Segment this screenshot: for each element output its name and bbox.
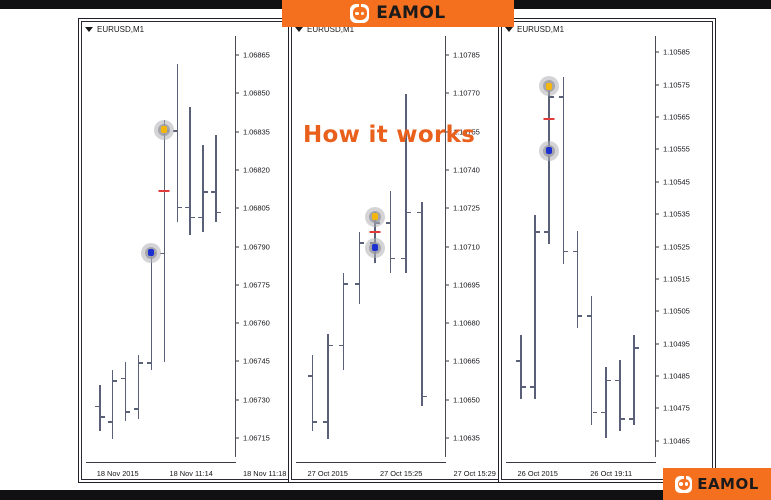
ohlc-close-tick [423, 396, 427, 398]
ohlc-open-tick [587, 315, 591, 317]
price-axis-tick [656, 311, 659, 312]
ohlc-open-tick [629, 418, 633, 420]
price-axis-tick [656, 246, 659, 247]
time-axis-label: 26 Oct 19:11 [590, 469, 632, 478]
ohlc-close-tick [101, 416, 105, 418]
ohlc-bar [312, 355, 314, 432]
price-axis-tick [446, 437, 449, 438]
price-axis-tick [446, 55, 449, 56]
price-axis-label: 1.10495 [663, 339, 690, 348]
sell-arrow-icon [148, 249, 154, 256]
brand-name: EAMOL [376, 5, 445, 22]
time-axis-label: 27 Oct 15:25 [380, 469, 422, 478]
price-axis-label: 1.10475 [663, 404, 690, 413]
chart-panel-3[interactable]: EURUSD,M1 1.105851.105751.105651.105551.… [498, 18, 716, 483]
price-axis-label: 1.06805 [243, 204, 270, 213]
time-axis-line-3 [506, 462, 656, 463]
ohlc-open-tick [121, 378, 125, 380]
price-axis-label: 1.10695 [453, 280, 480, 289]
ohlc-close-tick [329, 345, 333, 347]
price-axis-tick [446, 246, 449, 247]
ohlc-close-tick [126, 411, 130, 413]
time-axis-label: 27 Oct 2015 [308, 469, 348, 478]
plot-area-2 [296, 38, 446, 457]
price-axis-tick [656, 376, 659, 377]
price-axis-tick [446, 399, 449, 400]
ohlc-bar [327, 334, 329, 439]
ohlc-close-tick [607, 380, 611, 382]
chart-panel-1[interactable]: EURUSD,M1 1.068651.068501.068351.068201.… [78, 18, 296, 483]
price-axis-tick [656, 84, 659, 85]
price-axis-label: 1.10785 [453, 51, 480, 60]
price-axis-tick [236, 93, 239, 94]
symbol-header-1[interactable]: EURUSD,M1 [85, 25, 144, 34]
ohlc-open-tick [386, 222, 390, 224]
price-axis-tick [446, 93, 449, 94]
ohlc-bar [591, 296, 593, 425]
chevron-down-icon[interactable] [295, 27, 303, 32]
ohlc-bar [619, 360, 621, 431]
ohlc-open-tick [530, 386, 534, 388]
ohlc-bar [390, 191, 392, 273]
sell-signal-marker[interactable] [539, 141, 559, 161]
ohlc-open-tick [147, 362, 151, 364]
chart-panel-3-inner: EURUSD,M1 1.105851.105751.105651.105551.… [501, 21, 713, 480]
ohlc-open-tick [355, 283, 359, 285]
price-axis-label: 1.10635 [453, 433, 480, 442]
ohlc-bar [215, 135, 217, 222]
sell-arrow-icon [372, 244, 378, 251]
brand-name-watermark: EAMOL [697, 477, 759, 492]
price-axis-tick [236, 284, 239, 285]
ohlc-bar [189, 107, 191, 235]
price-axis-label: 1.10725 [453, 204, 480, 213]
ohlc-close-tick [344, 283, 348, 285]
price-axis-tick [446, 361, 449, 362]
ohlc-open-tick [308, 375, 312, 377]
ohlc-open-tick [559, 96, 563, 98]
price-axis-label: 1.06790 [243, 242, 270, 251]
robot-head-icon [350, 4, 369, 23]
price-axis-label: 1.10555 [663, 145, 690, 154]
ohlc-bar [343, 273, 345, 370]
ohlc-close-tick [621, 418, 625, 420]
price-axis-tick [656, 278, 659, 279]
ohlc-open-tick [95, 406, 99, 408]
ohlc-close-tick [536, 231, 540, 233]
ohlc-bar [563, 77, 565, 264]
time-axis-labels-1: 18 Nov 201518 Nov 11:1418 Nov 11:18 [82, 464, 292, 478]
price-axis-tick [236, 131, 239, 132]
ohlc-open-tick [198, 217, 202, 219]
chart-panel-1-inner: EURUSD,M1 1.068651.068501.068351.068201.… [81, 21, 293, 480]
price-axis-label: 1.06865 [243, 51, 270, 60]
ohlc-close-tick [360, 242, 364, 244]
price-axis-tick [656, 181, 659, 182]
sell-signal-marker[interactable] [141, 243, 161, 263]
ohlc-bar [151, 248, 153, 371]
price-axis-label: 1.10585 [663, 48, 690, 57]
ohlc-bar [605, 367, 607, 438]
ohlc-bar [99, 385, 101, 431]
price-axis-label: 1.06715 [243, 433, 270, 442]
chart-panel-2[interactable]: EURUSD,M1 1.107851.107701.107551.107401.… [288, 18, 506, 483]
ohlc-close-tick [313, 421, 317, 423]
ohlc-close-tick [635, 347, 639, 349]
price-axis-label: 1.06730 [243, 395, 270, 404]
symbol-label: EURUSD,M1 [517, 25, 564, 34]
price-axis-2: 1.107851.107701.107551.107401.107251.107… [445, 36, 502, 457]
price-axis-label: 1.10485 [663, 372, 690, 381]
ohlc-open-tick [544, 231, 548, 233]
ohlc-open-tick [401, 258, 405, 260]
price-axis-label: 1.10740 [453, 165, 480, 174]
buy-arrow-icon [372, 213, 378, 220]
price-axis-tick [446, 169, 449, 170]
price-axis-label: 1.10525 [663, 242, 690, 251]
price-axis-tick [236, 437, 239, 438]
price-axis-tick [446, 323, 449, 324]
time-axis-line-2 [296, 462, 446, 463]
price-axis-tick [446, 284, 449, 285]
ohlc-bar [138, 355, 140, 419]
price-axis-label: 1.10505 [663, 307, 690, 316]
time-axis-line-1 [86, 462, 236, 463]
ohlc-open-tick [323, 421, 327, 423]
price-axis-tick [236, 246, 239, 247]
sell-signal-marker[interactable] [365, 238, 385, 258]
price-axis-3: 1.105851.105751.105651.105551.105451.105… [655, 36, 712, 457]
brand-banner: EAMOL [282, 0, 514, 27]
time-axis-label: 18 Nov 11:14 [169, 469, 212, 478]
plot-area-3 [506, 38, 656, 457]
price-axis-tick [656, 52, 659, 53]
plot-area-1 [86, 38, 236, 457]
ohlc-close-tick [113, 380, 117, 382]
ohlc-open-tick [108, 421, 112, 423]
ohlc-close-tick [178, 207, 182, 209]
price-axis-tick [236, 169, 239, 170]
ohlc-close-tick [593, 412, 597, 414]
ohlc-close-tick [522, 386, 526, 388]
ohlc-open-tick [516, 360, 520, 362]
price-axis-label: 1.10535 [663, 210, 690, 219]
ohlc-bar [548, 83, 550, 244]
ohlc-open-tick [134, 408, 138, 410]
chevron-down-icon[interactable] [85, 27, 93, 32]
price-axis-tick [656, 116, 659, 117]
ohlc-bar [534, 215, 536, 399]
ohlc-close-tick [391, 258, 395, 260]
price-axis-tick [236, 361, 239, 362]
price-axis-tick [236, 323, 239, 324]
price-axis-1: 1.068651.068501.068351.068201.068051.067… [235, 36, 292, 457]
sell-arrow-icon [546, 147, 552, 154]
price-level-tick [159, 190, 170, 192]
brand-watermark: EAMOL [663, 468, 771, 500]
time-axis-label: 27 Oct 15:29 [454, 469, 496, 478]
time-axis-label: 18 Nov 11:18 [243, 469, 286, 478]
ohlc-close-tick [578, 315, 582, 317]
screenshot-stage: EURUSD,M1 1.068651.068501.068351.068201.… [0, 0, 771, 500]
ohlc-open-tick [185, 207, 189, 209]
ohlc-bar [421, 202, 423, 406]
price-axis-tick [236, 208, 239, 209]
buy-signal-marker[interactable] [154, 120, 174, 140]
bottom-frame-band [0, 490, 771, 500]
ohlc-open-tick [339, 345, 343, 347]
time-axis-label: 18 Nov 2015 [97, 469, 139, 478]
buy-arrow-icon [161, 126, 167, 133]
price-axis-tick [656, 343, 659, 344]
ohlc-bar [177, 64, 179, 222]
ohlc-open-tick [417, 212, 421, 214]
price-axis-label: 1.10770 [453, 89, 480, 98]
price-axis-label: 1.10565 [663, 112, 690, 121]
price-axis-label: 1.10465 [663, 436, 690, 445]
buy-arrow-icon [546, 83, 552, 90]
price-level-tick [369, 231, 380, 233]
ohlc-open-tick [601, 412, 605, 414]
price-axis-tick [656, 214, 659, 215]
price-axis-label: 1.06745 [243, 357, 270, 366]
price-axis-tick [446, 208, 449, 209]
ohlc-close-tick [204, 191, 208, 193]
ohlc-open-tick [211, 191, 215, 193]
price-axis-label: 1.10515 [663, 274, 690, 283]
price-axis-label: 1.10545 [663, 177, 690, 186]
time-axis-labels-2: 27 Oct 201527 Oct 15:2527 Oct 15:29 [292, 464, 502, 478]
price-axis-tick [656, 408, 659, 409]
price-level-tick [544, 118, 555, 120]
price-axis-label: 1.10710 [453, 242, 480, 251]
price-axis-tick [236, 399, 239, 400]
ohlc-bar [577, 231, 579, 328]
ohlc-open-tick [615, 380, 619, 382]
chart-panel-2-inner: EURUSD,M1 1.107851.107701.107551.107401.… [291, 21, 503, 480]
ohlc-bar [520, 335, 522, 399]
ohlc-bar [202, 145, 204, 232]
price-axis-label: 1.10575 [663, 80, 690, 89]
ohlc-open-tick [573, 251, 577, 253]
symbol-label: EURUSD,M1 [97, 25, 144, 34]
headline-how-it-works: How it works [303, 122, 475, 148]
price-axis-tick [656, 149, 659, 150]
ohlc-close-tick [139, 362, 143, 364]
price-axis-label: 1.06775 [243, 280, 270, 289]
price-axis-label: 1.06835 [243, 127, 270, 136]
price-axis-label: 1.10650 [453, 395, 480, 404]
ohlc-close-tick [407, 212, 411, 214]
buy-signal-marker[interactable] [539, 76, 559, 96]
robot-head-icon [675, 476, 692, 493]
price-axis-label: 1.06820 [243, 165, 270, 174]
price-axis-tick [236, 55, 239, 56]
ohlc-close-tick [191, 217, 195, 219]
price-axis-label: 1.10680 [453, 319, 480, 328]
price-axis-label: 1.06760 [243, 319, 270, 328]
buy-signal-marker[interactable] [365, 207, 385, 227]
price-axis-label: 1.06850 [243, 89, 270, 98]
ohlc-bar [164, 120, 166, 363]
chevron-down-icon[interactable] [505, 27, 513, 32]
ohlc-close-tick [564, 251, 568, 253]
price-axis-tick [656, 440, 659, 441]
price-axis-label: 1.10665 [453, 357, 480, 366]
ohlc-close-tick [217, 212, 221, 214]
time-axis-label: 26 Oct 2015 [518, 469, 558, 478]
